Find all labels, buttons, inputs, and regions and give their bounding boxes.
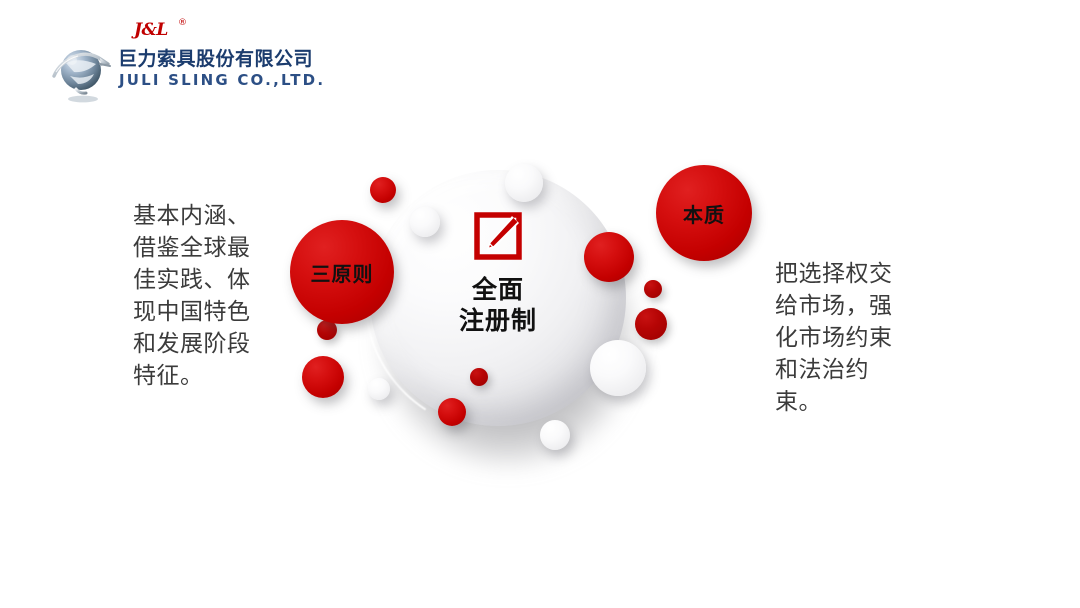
registered-trademark-icon: ®: [178, 18, 187, 28]
decorative-bubble-red: [438, 398, 466, 426]
description-text-left: 基本内涵、借鉴全球最佳实践、体现中国特色和发展阶段特征。: [133, 200, 263, 392]
central-bubble-diagram: 三原则 本质 全面 注册制: [270, 140, 790, 520]
center-content: 全面 注册制: [418, 212, 578, 336]
center-title-line2: 注册制: [418, 305, 578, 336]
decorative-bubble-red: [470, 368, 488, 386]
edit-square-pen-icon: [474, 212, 522, 260]
decorative-bubble-white: [590, 340, 646, 396]
bubble-label-benzhi[interactable]: 本质: [656, 165, 752, 261]
globe-sling-icon: [52, 42, 114, 104]
decorative-bubble-red: [584, 232, 634, 282]
decorative-bubble-red: [302, 356, 344, 398]
decorative-bubble-red: [644, 280, 662, 298]
decorative-bubble-white: [505, 164, 543, 202]
decorative-bubble-red: [635, 308, 667, 340]
logo-company-name-en: JULI SLING CO.,LTD.: [119, 71, 325, 89]
decorative-bubble-white: [368, 378, 390, 400]
center-title: 全面 注册制: [418, 274, 578, 336]
decorative-bubble-red: [370, 177, 396, 203]
description-text-right: 把选择权交给市场，强化市场约束和法治约束。: [775, 258, 907, 418]
bubble-label-text: 本质: [683, 199, 725, 228]
logo-jl-mark: J&L: [134, 20, 168, 40]
company-logo: J&L ® 巨力索具股份有限公司 JULI SLING CO.,LTD.: [48, 20, 348, 100]
bubble-label-text: 三原则: [311, 258, 374, 287]
center-title-line1: 全面: [418, 274, 578, 305]
slide-canvas: J&L ® 巨力索具股份有限公司 JULI SLING CO.,LTD. 基本内…: [0, 0, 1080, 608]
bubble-label-sanyuanze[interactable]: 三原则: [290, 220, 394, 324]
decorative-bubble-white: [540, 420, 570, 450]
logo-company-name-cn: 巨力索具股份有限公司: [118, 44, 313, 71]
